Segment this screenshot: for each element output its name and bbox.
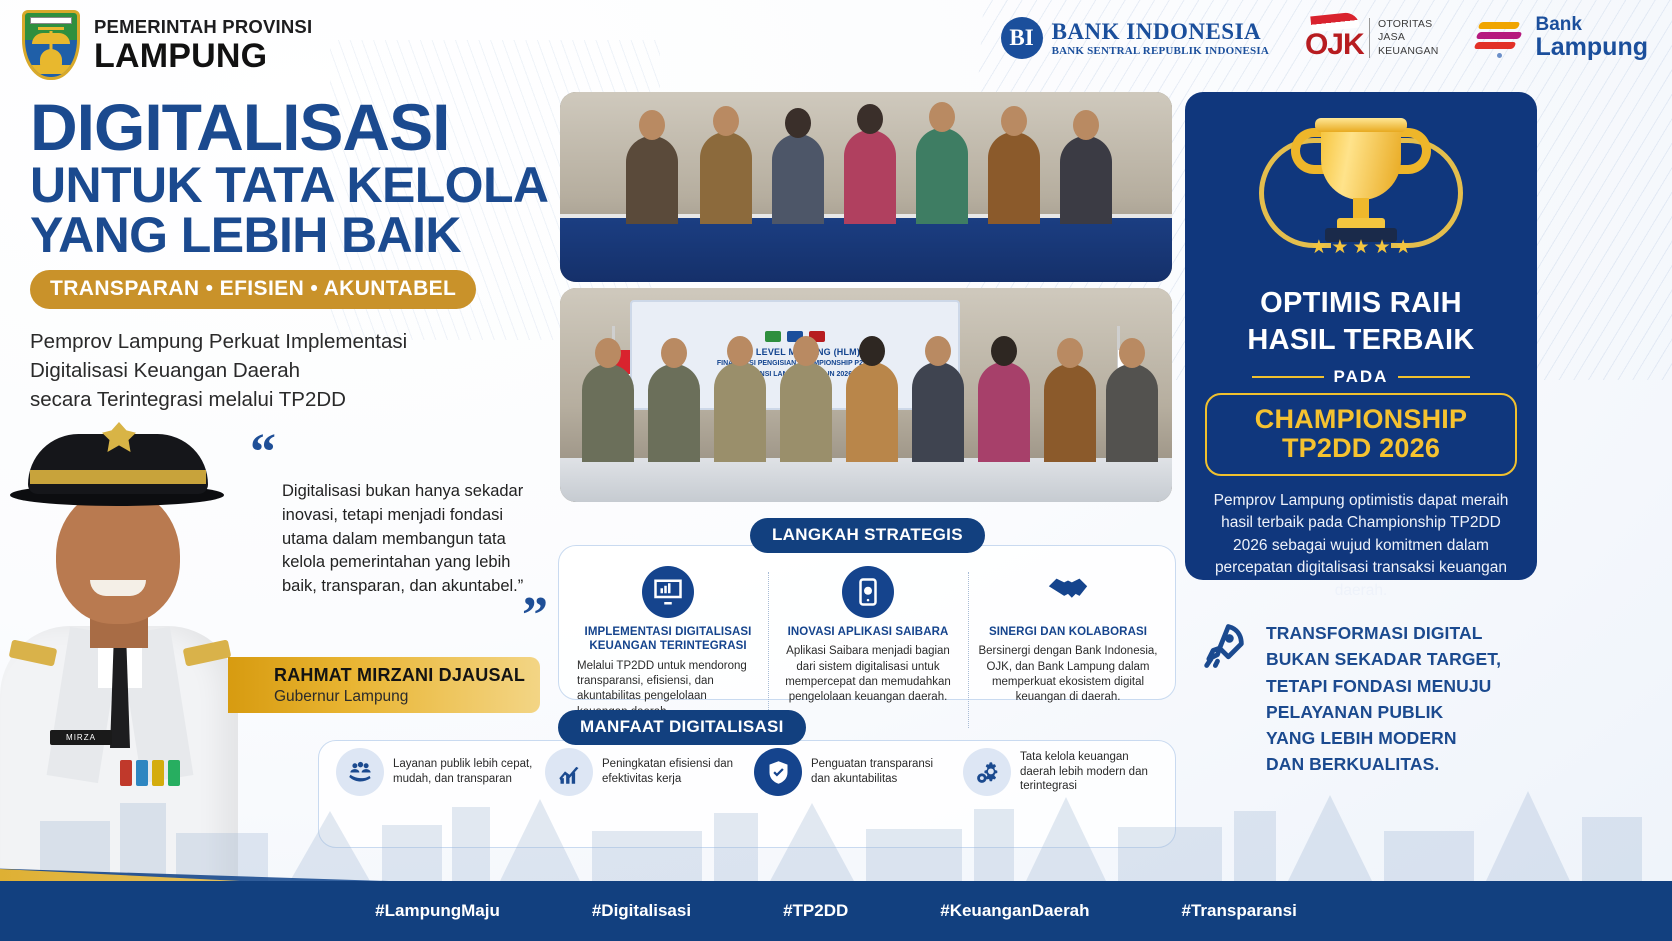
hashtag-2: #TP2DD bbox=[783, 901, 848, 921]
quote-open-mark: “ bbox=[250, 440, 548, 466]
strategi-item-2: SINERGI DAN KOLABORASI Bersinergi dengan… bbox=[968, 566, 1168, 720]
bank-indonesia-title: BANK INDONESIA bbox=[1052, 20, 1269, 43]
rocket-icon bbox=[1198, 620, 1250, 677]
transformasi-line-4: PELAYANAN PUBLIK bbox=[1266, 699, 1501, 725]
bank-lampung-title-1: Bank bbox=[1536, 15, 1649, 34]
hero-title-line-2: UNTUK TATA KELOLA bbox=[30, 160, 550, 210]
bank-indonesia-subtitle: BANK SENTRAL REPUBLIK INDONESIA bbox=[1052, 45, 1269, 57]
manfaat-title: MANFAAT DIGITALISASI bbox=[558, 710, 806, 745]
championship-line-2: TP2DD 2026 bbox=[1215, 434, 1507, 463]
monitor-chart-icon bbox=[642, 566, 694, 618]
strategi-item-2-title: SINERGI DAN KOLABORASI bbox=[977, 625, 1159, 639]
transformasi-line-1: TRANSFORMASI DIGITAL bbox=[1266, 620, 1501, 646]
ojk-title-3: KEUANGAN bbox=[1378, 45, 1439, 58]
transformasi-line-3: TETAPI FONDASI MENUJU bbox=[1266, 673, 1501, 699]
ojk-mark-icon: OJK bbox=[1305, 14, 1361, 62]
strategi-item-0-title: IMPLEMENTASI DIGITALISASI KEUANGAN TERIN… bbox=[577, 625, 759, 654]
governor-name: RAHMAT MIRZANI DJAUSAL bbox=[274, 665, 540, 686]
bank-lampung-logo: Bank Lampung bbox=[1475, 15, 1649, 60]
hashtag-footer: #LampungMaju #Digitalisasi #TP2DD #Keuan… bbox=[0, 881, 1672, 941]
hero-headline: DIGITALISASI UNTUK TATA KELOLA YANG LEBI… bbox=[30, 96, 550, 414]
hashtag-1: #Digitalisasi bbox=[592, 901, 691, 921]
hashtag-3: #KeuanganDaerah bbox=[940, 901, 1089, 921]
hashtag-4: #Transparansi bbox=[1182, 901, 1297, 921]
hero-subtitle: Pemprov Lampung Perkuat Implementasi Dig… bbox=[30, 327, 550, 414]
governor-role: Gubernur Lampung bbox=[274, 688, 540, 706]
uniform-name-tag: MIRZA bbox=[50, 730, 112, 745]
bank-lampung-title-2: Lampung bbox=[1536, 34, 1649, 60]
strategi-title: LANGKAH STRATEGIS bbox=[750, 518, 985, 553]
strategi-item-1: INOVASI APLIKASI SAIBARA Aplikasi Saibar… bbox=[768, 566, 968, 720]
ojk-letters: OJK bbox=[1305, 28, 1364, 62]
quote-text: Digitalisasi bukan hanya sekadar inovasi… bbox=[282, 480, 548, 599]
trophy-icon: ★★★★★ bbox=[1253, 114, 1469, 282]
quote-close-mark: ” bbox=[248, 603, 548, 629]
transformasi-line-5: YANG LEBIH MODERN bbox=[1266, 725, 1501, 751]
governor-quote: “ Digitalisasi bukan hanya sekadar inova… bbox=[248, 440, 548, 629]
govt-line-1: PEMERINTAH PROVINSI bbox=[94, 17, 312, 36]
brand-text: PEMERINTAH PROVINSI LAMPUNG bbox=[94, 17, 312, 72]
bank-indonesia-mark-icon: BI bbox=[1001, 17, 1043, 59]
award-body-text: Pemprov Lampung optimistis dapat meraih … bbox=[1205, 490, 1517, 602]
stars-icon: ★★★★★ bbox=[1253, 238, 1469, 257]
hero-title-line-1: DIGITALISASI bbox=[30, 96, 550, 158]
award-panel: ★★★★★ OPTIMIS RAIH HASIL TERBAIK PADA CH… bbox=[1185, 92, 1537, 580]
bank-indonesia-logo: BI BANK INDONESIA BANK SENTRAL REPUBLIK … bbox=[1001, 17, 1269, 59]
strategi-item-0: IMPLEMENTASI DIGITALISASI KEUANGAN TERIN… bbox=[568, 566, 768, 720]
pada-label: PADA bbox=[1334, 367, 1389, 387]
banner-logo-row bbox=[765, 331, 825, 342]
award-headline-2: HASIL TERBAIK bbox=[1205, 325, 1517, 356]
meeting-participants-photo bbox=[560, 92, 1172, 282]
transformasi-line-2: BUKAN SEKADAR TARGET, bbox=[1266, 646, 1501, 672]
strategi-item-1-title: INOVASI APLIKASI SAIBARA bbox=[777, 625, 959, 639]
govt-line-2: LAMPUNG bbox=[94, 39, 312, 73]
mobile-payment-icon bbox=[842, 566, 894, 618]
strategi-item-1-body: Aplikasi Saibara menjadi bagian dari sis… bbox=[777, 644, 959, 705]
ojk-title-2: JASA bbox=[1378, 31, 1439, 44]
hero-subtitle-line-2: Digitalisasi Keuangan Daerah bbox=[30, 356, 550, 385]
hashtag-0: #LampungMaju bbox=[375, 901, 500, 921]
championship-box: CHAMPIONSHIP TP2DD 2026 bbox=[1205, 393, 1517, 476]
pada-row: PADA bbox=[1205, 367, 1517, 387]
group-photo-high-level-meeting: HIGH LEVEL MEETING (HLM) FINALISASI PENG… bbox=[560, 288, 1172, 502]
ojk-title-1: OTORITAS bbox=[1378, 18, 1439, 31]
infographic-root: PEMERINTAH PROVINSI LAMPUNG BI BANK INDO… bbox=[0, 0, 1672, 941]
lampung-crest-icon bbox=[22, 10, 80, 80]
brand-block: PEMERINTAH PROVINSI LAMPUNG bbox=[22, 10, 312, 80]
hero-subtitle-line-3: secara Terintegrasi melalui TP2DD bbox=[30, 385, 550, 414]
strategi-item-2-body: Bersinergi dengan Bank Indonesia, OJK, d… bbox=[977, 644, 1159, 705]
header: PEMERINTAH PROVINSI LAMPUNG BI BANK INDO… bbox=[0, 0, 1672, 90]
hero-subtitle-line-1: Pemprov Lampung Perkuat Implementasi bbox=[30, 327, 550, 356]
championship-line-1: CHAMPIONSHIP bbox=[1215, 405, 1507, 434]
hero-title-line-3: YANG LEBIH BAIK bbox=[30, 210, 550, 260]
city-skyline-decoration bbox=[0, 751, 1672, 881]
award-headline-1: OPTIMIS RAIH bbox=[1205, 288, 1517, 319]
ojk-logo: OJK OTORITAS JASA KEUANGAN bbox=[1305, 14, 1439, 62]
partner-logos: BI BANK INDONESIA BANK SENTRAL REPUBLIK … bbox=[1001, 14, 1648, 62]
governor-name-band: RAHMAT MIRZANI DJAUSAL Gubernur Lampung bbox=[228, 657, 540, 713]
strategi-columns: IMPLEMENTASI DIGITALISASI KEUANGAN TERIN… bbox=[568, 566, 1168, 720]
handshake-icon bbox=[1042, 566, 1094, 618]
hero-values-pill: TRANSPARAN • EFISIEN • AKUNTABEL bbox=[30, 270, 476, 309]
bank-lampung-mark-icon bbox=[1475, 18, 1527, 58]
